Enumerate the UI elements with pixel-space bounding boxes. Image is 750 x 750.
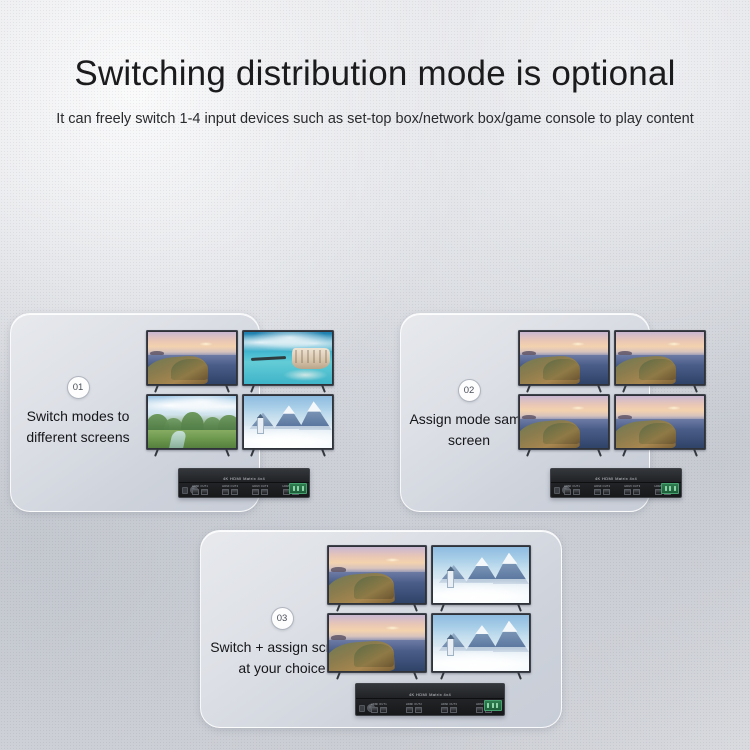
port-label: HDMI OUT1 [564, 485, 580, 488]
hdmi-port[interactable] [415, 707, 422, 713]
page-title: Switching distribution mode is optional [0, 55, 750, 94]
device-brand-label: 4K HDMI Matrix 4x4 [356, 692, 504, 697]
hdmi-port[interactable] [371, 707, 378, 713]
step-badge-03: 03 [271, 607, 294, 630]
tv-screen-2-1 [518, 330, 610, 386]
hdmi-port[interactable] [633, 489, 640, 495]
screen-image-sunset-coast [329, 547, 425, 603]
mode-caption-text-02: Assign mode same screen [404, 409, 534, 452]
page-subtitle: It can freely switch 1-4 input devices s… [25, 108, 725, 130]
tv-screen-1-4 [242, 394, 334, 450]
hdmi-port[interactable] [450, 707, 457, 713]
hdmi-port[interactable] [594, 489, 601, 495]
ir-sensor [359, 705, 365, 712]
screen-image-sunset-coast [148, 332, 236, 384]
tv-screen-3-1 [327, 545, 427, 605]
port-label: HDMI OUT2 [594, 485, 610, 488]
header: Switching distribution mode is optional … [0, 0, 750, 130]
device-brand-label: 4K HDMI Matrix 4x4 [179, 476, 309, 481]
tv-screen-1-2 [242, 330, 334, 386]
device-brand-label: 4K HDMI Matrix 4x4 [551, 476, 681, 481]
matrix-switch-device-02: 4K HDMI Matrix 4x4 HDMI OUT1 HDMI OUT2 H… [550, 468, 680, 496]
screen-image-sunset-coast [616, 332, 704, 384]
hdmi-port[interactable] [222, 489, 229, 495]
ir-sensor [554, 487, 560, 494]
mode-caption-text-01: Switch modes to different screens [12, 406, 144, 449]
hdmi-port[interactable] [261, 489, 268, 495]
tv-screen-1-1 [146, 330, 238, 386]
port-label: HDMI OUT2 [222, 485, 238, 488]
hdmi-port[interactable] [252, 489, 259, 495]
screen-image-snowy-alps [244, 396, 332, 448]
screen-image-snowy-alps [433, 615, 529, 671]
hdmi-port[interactable] [231, 489, 238, 495]
hdmi-port[interactable] [624, 489, 631, 495]
tv-screen-2-4 [614, 394, 706, 450]
port-label: HDMI OUT1 [192, 485, 208, 488]
hdmi-port[interactable] [564, 489, 571, 495]
matrix-switch-device-03: 4K HDMI Matrix 4x4 HDMI OUT1 HDMI OUT2 H… [355, 683, 503, 714]
step-badge-01: 01 [67, 376, 90, 399]
screen-image-green-karst [148, 396, 236, 448]
hdmi-port[interactable] [573, 489, 580, 495]
screen-image-sunset-coast [616, 396, 704, 448]
hdmi-port[interactable] [192, 489, 199, 495]
hdmi-port[interactable] [603, 489, 610, 495]
tv-screen-1-3 [146, 394, 238, 450]
hdmi-port[interactable] [201, 489, 208, 495]
tv-screen-2-3 [518, 394, 610, 450]
port-label: HDMI OUT2 [406, 703, 422, 706]
screen-image-snowy-alps [433, 547, 529, 603]
matrix-switch-device-01: 4K HDMI Matrix 4x4 HDMI OUT1 HDMI OUT2 H… [178, 468, 308, 496]
screen-image-sunset-coast [520, 332, 608, 384]
port-label: HDMI OUT3 [252, 485, 268, 488]
hdmi-port[interactable] [476, 707, 483, 713]
port-label: HDMI OUT3 [441, 703, 457, 706]
step-badge-02: 02 [458, 379, 481, 402]
hdmi-port[interactable] [406, 707, 413, 713]
tv-screen-3-4 [431, 613, 531, 673]
green-terminal-block [484, 700, 502, 711]
screen-image-turquoise-bay [244, 332, 332, 384]
screen-image-sunset-coast [520, 396, 608, 448]
tv-screen-3-3 [327, 613, 427, 673]
green-terminal-block [661, 483, 679, 494]
tv-screen-2-2 [614, 330, 706, 386]
green-terminal-block [289, 483, 307, 494]
tv-screen-3-2 [431, 545, 531, 605]
screen-image-sunset-coast [329, 615, 425, 671]
hdmi-port[interactable] [441, 707, 448, 713]
port-label: HDMI OUT3 [624, 485, 640, 488]
ir-sensor [182, 487, 188, 494]
hdmi-port[interactable] [380, 707, 387, 713]
port-label: HDMI OUT1 [371, 703, 387, 706]
mode-caption-01: 01 Switch modes to different screens [12, 376, 144, 449]
mode-caption-02: 02 Assign mode same screen [404, 379, 534, 452]
